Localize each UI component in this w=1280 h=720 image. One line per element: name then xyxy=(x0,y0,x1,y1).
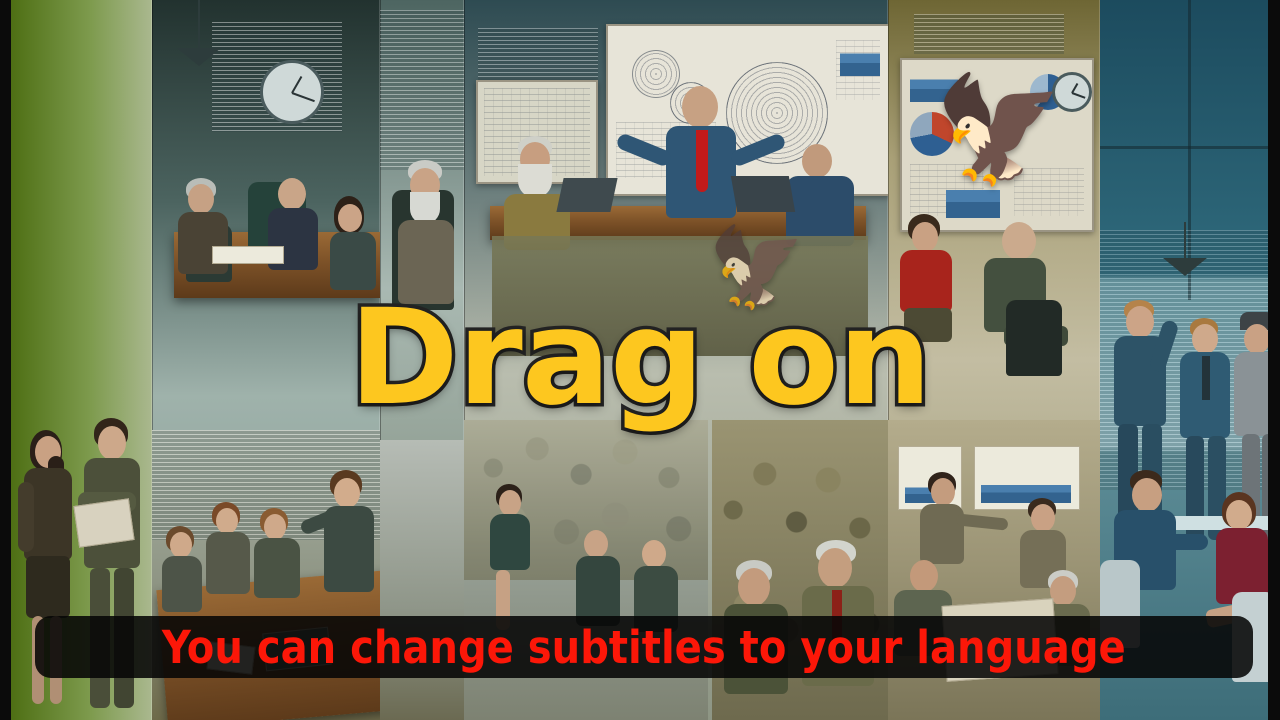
head xyxy=(931,478,955,506)
person-seated-woman xyxy=(204,502,256,602)
lamp-cord xyxy=(1184,222,1186,258)
head xyxy=(170,532,192,558)
head xyxy=(1226,500,1252,530)
head xyxy=(818,548,852,588)
head xyxy=(278,178,306,210)
head xyxy=(682,86,718,128)
head xyxy=(188,184,214,214)
window-blinds xyxy=(380,10,464,170)
person-seated-executive-center xyxy=(248,168,318,288)
subtitle-bar: You can change subtitles to your languag… xyxy=(35,616,1253,678)
lamp-cord xyxy=(198,0,200,48)
beard xyxy=(518,164,552,198)
pendant-lamp-icon xyxy=(1163,258,1207,276)
head xyxy=(338,204,362,232)
head xyxy=(738,568,770,606)
subtitle-text: You can change subtitles to your languag… xyxy=(162,625,1126,670)
torso xyxy=(920,504,964,564)
person-seated-man-right xyxy=(780,140,864,236)
person-seated-woman xyxy=(160,526,208,616)
head xyxy=(1132,478,1162,512)
pendant-lamp-icon xyxy=(177,48,221,66)
page-title: Drag on xyxy=(0,292,1280,424)
laptop-left xyxy=(556,178,617,212)
red-necktie xyxy=(696,130,708,192)
skirt xyxy=(26,556,70,618)
thumbnail-canvas: 🦅 xyxy=(0,0,1280,720)
head xyxy=(98,426,126,460)
person-walking-woman xyxy=(484,484,536,634)
held-documents xyxy=(73,498,134,547)
laptop-right xyxy=(731,176,795,212)
person-seated-woman xyxy=(252,508,306,606)
arm xyxy=(18,482,34,552)
head xyxy=(642,540,666,568)
torso xyxy=(490,514,530,570)
head xyxy=(584,530,608,558)
arm-on-table xyxy=(1162,534,1208,550)
head xyxy=(910,560,938,592)
window-mullion xyxy=(1100,146,1280,149)
person-seated-executive-left xyxy=(174,178,236,288)
head xyxy=(802,144,832,178)
head xyxy=(1050,576,1076,606)
torso xyxy=(178,212,228,274)
desk-documents xyxy=(212,246,284,264)
head xyxy=(499,490,521,516)
person-standing-presenter-woman xyxy=(314,470,380,630)
head xyxy=(1031,504,1055,532)
head xyxy=(264,514,286,540)
torso xyxy=(254,538,300,598)
torso xyxy=(206,532,250,594)
clock-icon xyxy=(260,60,324,124)
head xyxy=(216,508,238,534)
head xyxy=(334,478,360,508)
head xyxy=(912,222,938,252)
eagle-icon: 🦅 xyxy=(934,78,1064,182)
bar-chart-icon xyxy=(840,44,880,76)
window-blinds xyxy=(914,14,1064,54)
torso xyxy=(162,556,202,612)
head-bald xyxy=(1002,222,1036,260)
subscene-corridor-crowd xyxy=(380,440,464,720)
